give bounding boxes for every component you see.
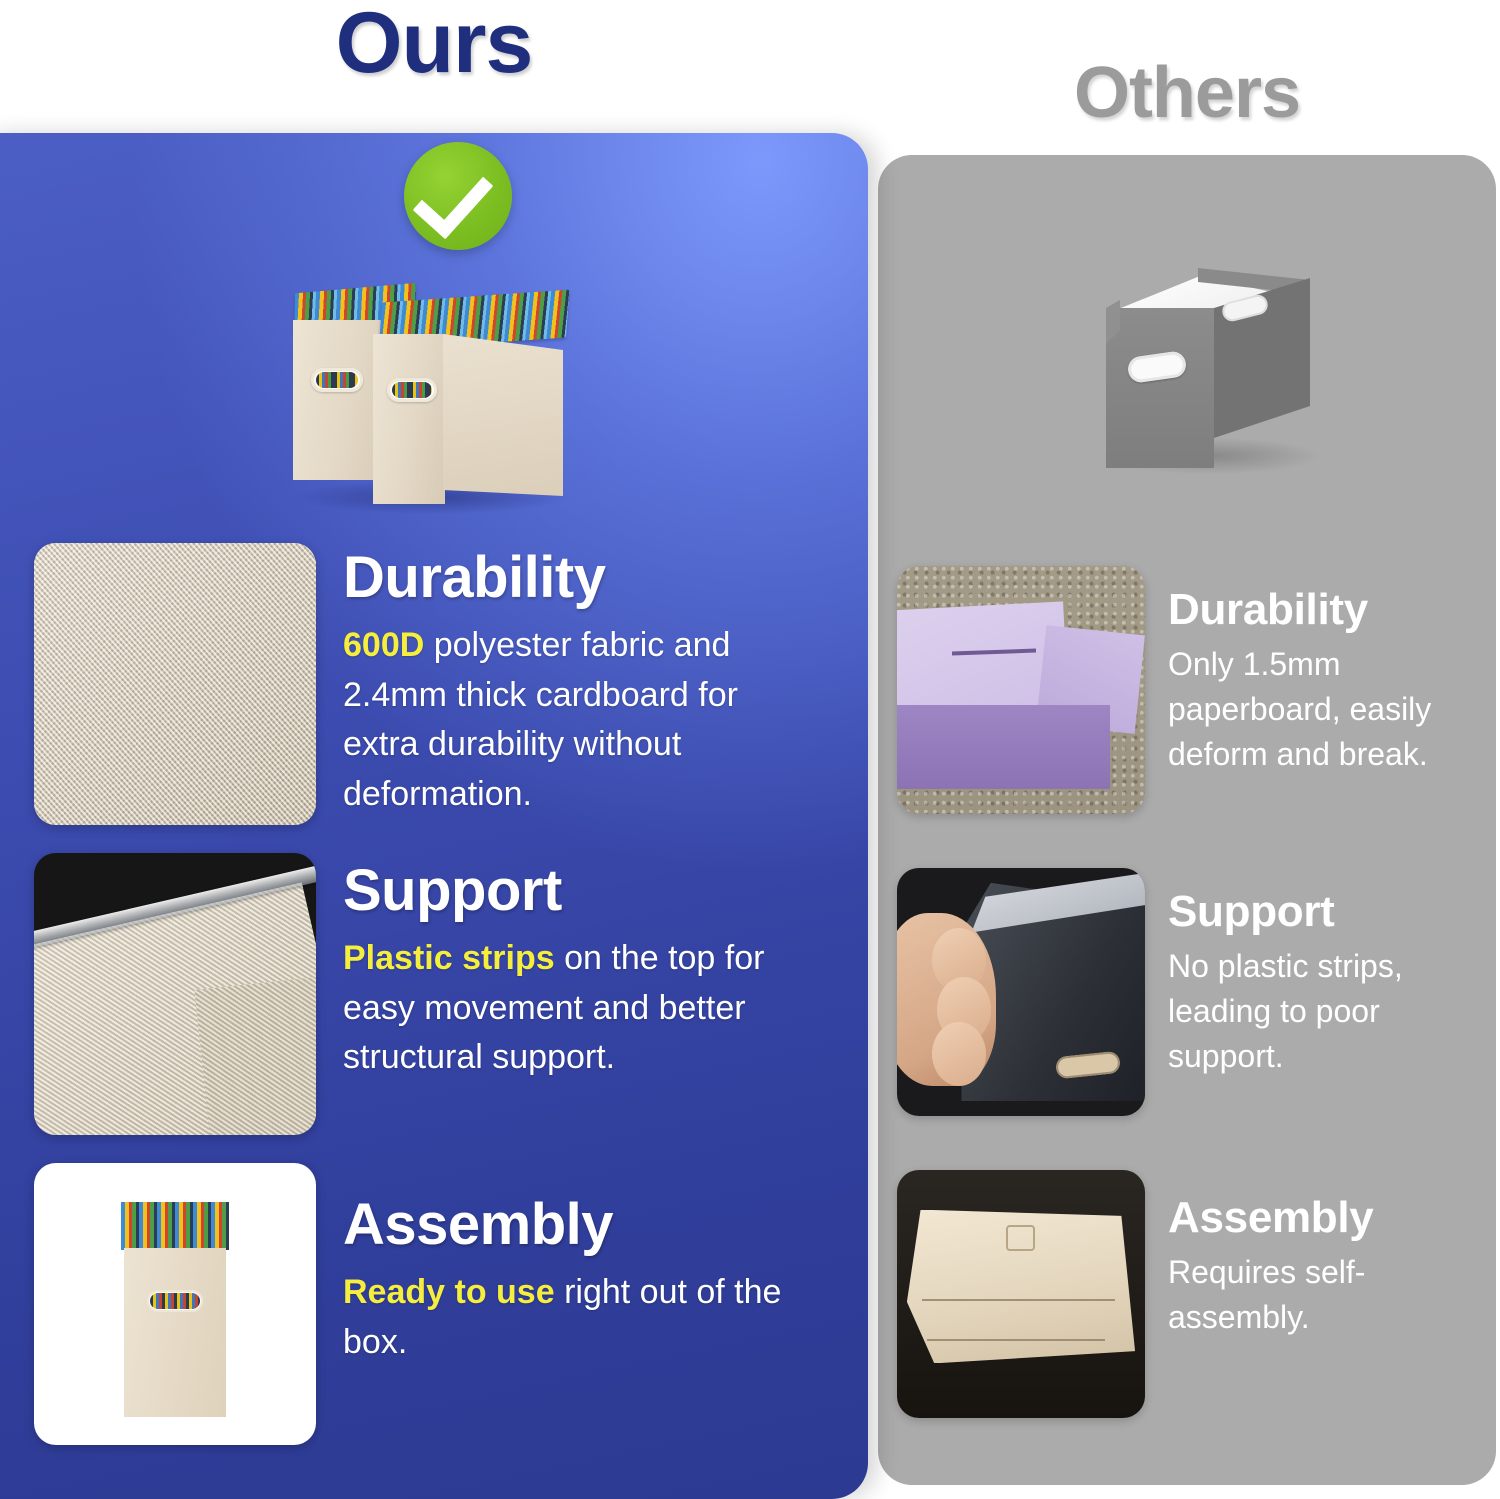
gray-box-front-panel [1106,308,1214,468]
purple-box-base [897,705,1110,789]
broken-purple-paperboard-box-on-carpet [897,566,1145,814]
ours-feature-assembly: Assembly Ready to use right out of the b… [343,1196,823,1367]
others-assembly-title: Assembly [1168,1196,1498,1240]
ours-support-body: Plastic strips on the top for easy movem… [343,934,813,1083]
clear-plastic-rim-strip-closeup [34,853,316,1135]
checkmark-glyph [413,157,494,240]
beige-box-right [373,334,563,504]
ours-feature-durability: Durability 600D polyester fabric and 2.4… [343,549,823,820]
others-support-body: No plastic strips, leading to poor suppo… [1168,944,1488,1078]
others-thumb-durability [897,566,1145,814]
ours-title: Ours [0,0,868,93]
box-handle [147,1290,203,1313]
hand-holding-dark-box-without-strips [897,868,1145,1116]
box-side-panel [443,328,563,496]
others-thumb-assembly [897,1170,1145,1418]
ours-thumb-support [34,853,316,1135]
others-thumb-support [897,868,1145,1116]
ours-support-highlight: Plastic strips [343,939,555,977]
ours-hero-product-image [285,272,585,530]
assembled-box-with-folders-on-white [34,1163,316,1445]
ours-durability-title: Durability [343,549,823,607]
ours-thumb-durability [34,543,316,825]
ours-assembly-title: Assembly [343,1196,823,1254]
folder-colors-through-handle [150,1293,200,1310]
ours-thumb-assembly [34,1163,316,1445]
score-line-2 [927,1339,1106,1341]
others-feature-assembly: Assembly Requires self-assembly. [1168,1196,1498,1340]
box-handle-right [387,378,437,402]
others-title: Others [878,52,1496,134]
others-durability-body: Only 1.5mm paperboard, easily deform and… [1168,642,1488,776]
ours-assembly-body: Ready to use right out of the box. [343,1268,813,1367]
beige-woven-fabric-closeup [34,543,316,825]
flat-unassembled-cardboard-sheet [897,1170,1145,1418]
others-feature-durability: Durability Only 1.5mm paperboard, easily… [1168,588,1498,776]
green-check-circle-icon [404,142,512,250]
ours-feature-support: Support Plastic strips on the top for ea… [343,862,823,1083]
others-hero-product-image [1098,238,1328,490]
handle-slot [1006,1225,1035,1251]
folder-colors-through-handle [392,382,432,398]
folder-colors-through-handle [316,372,358,388]
others-assembly-body: Requires self-assembly. [1168,1250,1488,1340]
finger-3 [932,1022,987,1086]
others-support-title: Support [1168,890,1498,934]
ours-durability-body: 600D polyester fabric and 2.4mm thick ca… [343,621,813,820]
box-front-panel [373,334,445,504]
others-feature-support: Support No plastic strips, leading to po… [1168,890,1498,1078]
others-durability-title: Durability [1168,588,1498,632]
score-line-1 [922,1299,1115,1301]
beige-box-body [124,1248,226,1417]
ours-support-title: Support [343,862,823,920]
ours-assembly-highlight: Ready to use [343,1273,555,1311]
fabric-box-side [195,977,316,1135]
box-handle-left [311,368,363,392]
colorful-hanging-folders [121,1202,228,1250]
ours-durability-highlight: 600D [343,626,424,664]
